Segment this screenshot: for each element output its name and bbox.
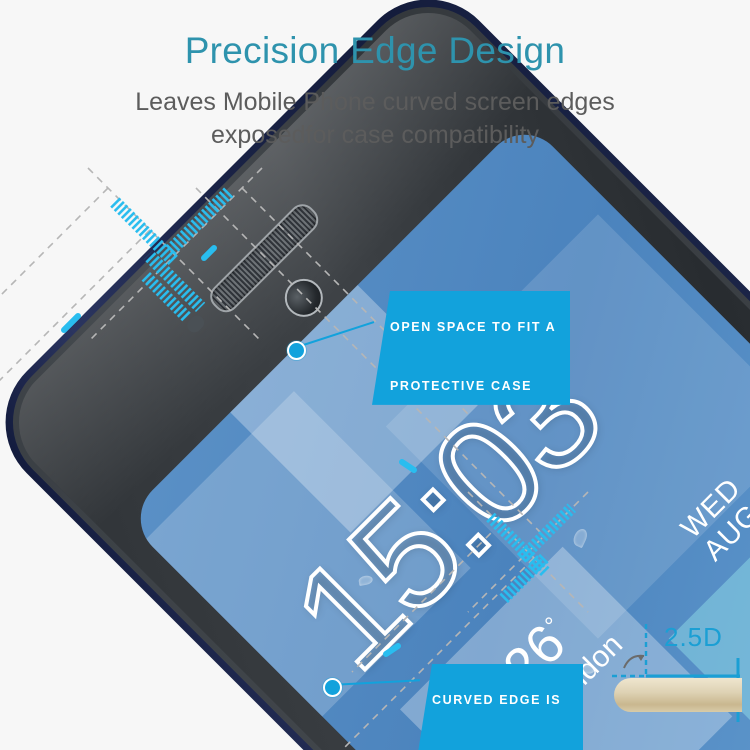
callout-open-space[interactable]: OPEN SPACE TO FIT A PROTECTIVE CASE	[372, 291, 570, 405]
subtitle-line-1: Leaves Mobile Phone curved screen edges	[135, 88, 614, 116]
callout-curved-edge[interactable]: CURVED EDGE IS LEFT UNCOVERED	[414, 664, 583, 750]
page-title: Precision Edge Design	[0, 0, 750, 69]
callout-line-1: CURVED EDGE IS	[432, 693, 561, 707]
callout-marker-dot-1	[287, 341, 306, 360]
proximity-sensor-icon	[184, 313, 207, 336]
edge-diagram-label: 2.5D	[664, 622, 723, 653]
edge-diagram-2-5d: 2.5D	[612, 618, 750, 728]
date-widget: WED AUG 22	[675, 445, 750, 568]
callout-marker-dot-2	[323, 678, 342, 697]
subtitle-line-2: exposedfor case compatibility	[211, 121, 539, 149]
callout-line-2: PROTECTIVE CASE	[390, 379, 532, 393]
header: Precision Edge Design Leaves Mobile Phon…	[0, 0, 750, 175]
glass-edge-cross-section	[614, 678, 742, 712]
page-subtitle: Leaves Mobile Phone curved screen edges …	[0, 69, 750, 152]
front-camera-icon	[277, 271, 331, 325]
product-image-canvas: Precision Edge Design Leaves Mobile Phon…	[0, 0, 750, 750]
callout-line-1: OPEN SPACE TO FIT A	[390, 320, 556, 334]
